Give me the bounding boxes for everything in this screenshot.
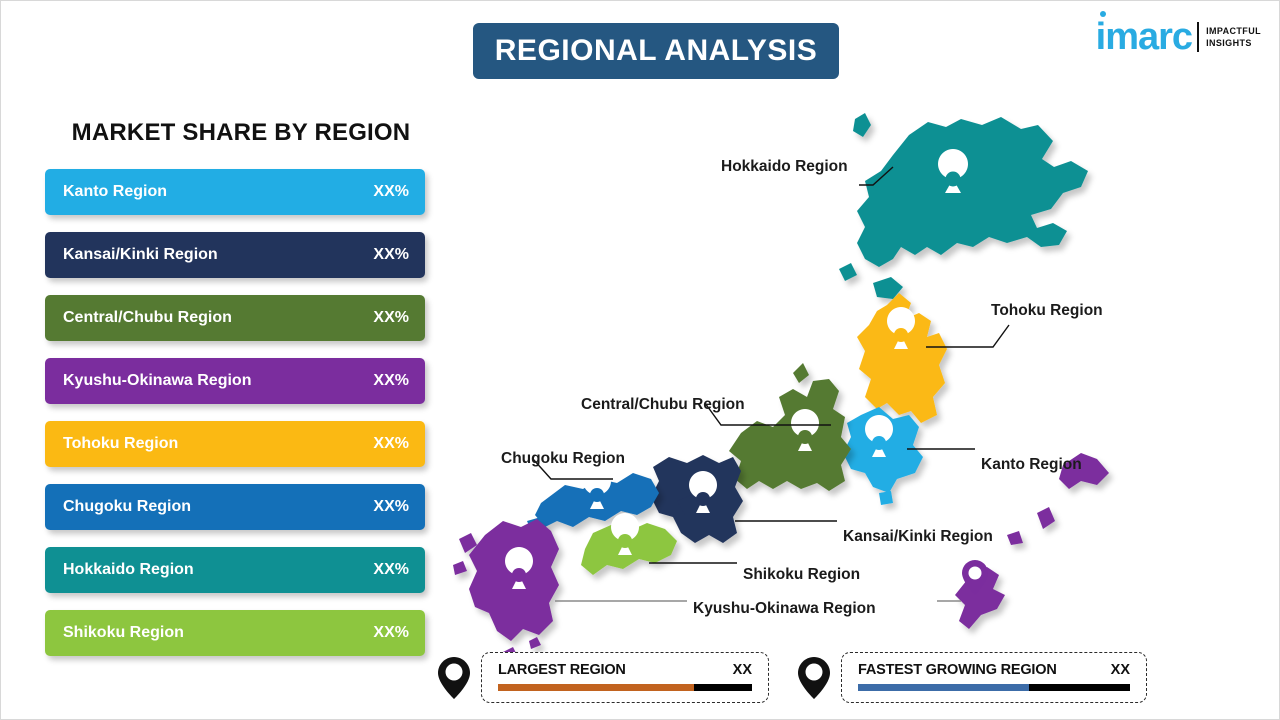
legend-row-value: XX% bbox=[373, 561, 409, 579]
largest-region-box: LARGEST REGION XX bbox=[481, 652, 769, 703]
map-label-shikoku: Shikoku Region bbox=[743, 566, 860, 583]
logo-tagline: IMPACTFUL INSIGHTS bbox=[1206, 25, 1261, 49]
legend-row-label: Chugoku Region bbox=[63, 498, 191, 516]
imarc-logo: imarc IMPACTFUL INSIGHTS bbox=[1096, 15, 1261, 59]
map-label-kansai-kinki: Kansai/Kinki Region bbox=[843, 528, 993, 545]
legend-row-label: Kansai/Kinki Region bbox=[63, 246, 218, 264]
map-label-kanto: Kanto Region bbox=[981, 456, 1082, 473]
legend-row-label: Hokkaido Region bbox=[63, 561, 194, 579]
logo-dot-icon bbox=[1100, 11, 1106, 17]
logo-tagline-line1: IMPACTFUL bbox=[1206, 25, 1261, 37]
map-pin-icon bbox=[437, 656, 471, 700]
map-label-tohoku: Tohoku Region bbox=[991, 302, 1103, 319]
largest-region-label: LARGEST REGION bbox=[498, 662, 626, 678]
map-label-central-chubu: Central/Chubu Region bbox=[581, 396, 745, 413]
page-title-banner: REGIONAL ANALYSIS bbox=[473, 23, 839, 79]
map-region-central-chubu[interactable] bbox=[729, 363, 851, 491]
legend-row-value: XX% bbox=[373, 246, 409, 264]
market-share-panel: MARKET SHARE BY REGION Kanto RegionXX%Ka… bbox=[45, 119, 437, 673]
fastest-growing-region-progress-track bbox=[858, 684, 1130, 691]
legend-list: Kanto RegionXX%Kansai/Kinki RegionXX%Cen… bbox=[45, 169, 437, 656]
map-region-hokkaido[interactable] bbox=[839, 113, 1088, 299]
legend-row-value: XX% bbox=[373, 498, 409, 516]
legend-row-value: XX% bbox=[373, 309, 409, 327]
legend-row-value: XX% bbox=[373, 183, 409, 201]
map-label-kyushu-okinawa: Kyushu-Okinawa Region bbox=[693, 600, 876, 617]
legend-row-label: Kanto Region bbox=[63, 183, 167, 201]
legend-row-label: Tohoku Region bbox=[63, 435, 178, 453]
legend-row[interactable]: Shikoku RegionXX% bbox=[45, 610, 425, 656]
fastest-growing-region-stat: FASTEST GROWING REGION XX bbox=[797, 652, 1147, 703]
legend-row[interactable]: Kansai/Kinki RegionXX% bbox=[45, 232, 425, 278]
map-label-chugoku: Chugoku Region bbox=[501, 450, 625, 467]
fastest-growing-region-progress-fill bbox=[858, 684, 1029, 691]
map-pin-icon bbox=[797, 656, 831, 700]
legend-row[interactable]: Kyushu-Okinawa RegionXX% bbox=[45, 358, 425, 404]
logo-divider bbox=[1197, 22, 1199, 52]
legend-row[interactable]: Hokkaido RegionXX% bbox=[45, 547, 425, 593]
logo-tagline-line2: INSIGHTS bbox=[1206, 37, 1261, 49]
fastest-growing-region-box: FASTEST GROWING REGION XX bbox=[841, 652, 1147, 703]
logo-wordmark: imarc bbox=[1096, 18, 1192, 56]
fastest-growing-region-label: FASTEST GROWING REGION bbox=[858, 662, 1057, 678]
largest-region-progress-fill bbox=[498, 684, 694, 691]
legend-heading: MARKET SHARE BY REGION bbox=[45, 119, 437, 147]
legend-row[interactable]: Chugoku RegionXX% bbox=[45, 484, 425, 530]
fastest-growing-region-value: XX bbox=[1111, 662, 1130, 678]
map-region-kyushu[interactable] bbox=[453, 519, 559, 657]
legend-row-label: Central/Chubu Region bbox=[63, 309, 232, 327]
japan-region-map: Hokkaido Region Tohoku Region Central/Ch… bbox=[441, 97, 1271, 657]
slide-root: REGIONAL ANALYSIS imarc IMPACTFUL INSIGH… bbox=[0, 0, 1280, 720]
legend-row[interactable]: Central/Chubu RegionXX% bbox=[45, 295, 425, 341]
legend-row-label: Shikoku Region bbox=[63, 624, 184, 642]
map-label-hokkaido: Hokkaido Region bbox=[721, 158, 848, 175]
legend-row-value: XX% bbox=[373, 372, 409, 390]
page-title: REGIONAL ANALYSIS bbox=[495, 34, 817, 68]
largest-region-value: XX bbox=[733, 662, 752, 678]
largest-region-stat: LARGEST REGION XX bbox=[437, 652, 769, 703]
logo-word-text: imarc bbox=[1096, 16, 1192, 58]
legend-row[interactable]: Kanto RegionXX% bbox=[45, 169, 425, 215]
legend-row-value: XX% bbox=[373, 624, 409, 642]
largest-region-progress-track bbox=[498, 684, 752, 691]
legend-row-value: XX% bbox=[373, 435, 409, 453]
legend-row-label: Kyushu-Okinawa Region bbox=[63, 372, 251, 390]
legend-row[interactable]: Tohoku RegionXX% bbox=[45, 421, 425, 467]
